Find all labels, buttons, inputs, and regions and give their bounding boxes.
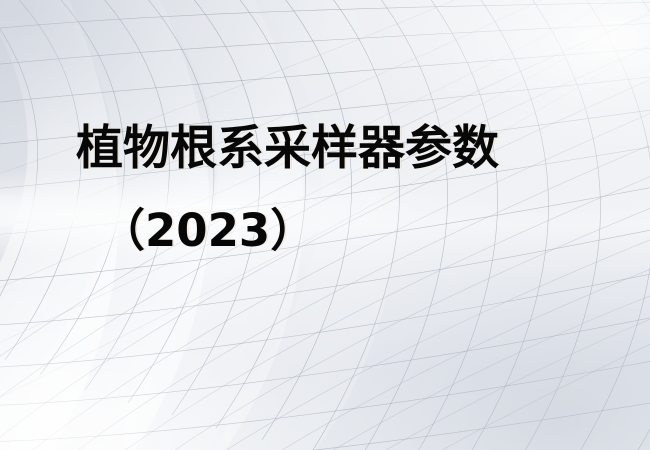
slide-title-block: 植物根系采样器参数 （2023） <box>0 0 650 450</box>
slide-title-line-1: 植物根系采样器参数 <box>76 121 499 177</box>
slide-title-line-2: （2023） <box>100 203 315 259</box>
slide-canvas: 植物根系采样器参数 （2023） <box>0 0 650 450</box>
